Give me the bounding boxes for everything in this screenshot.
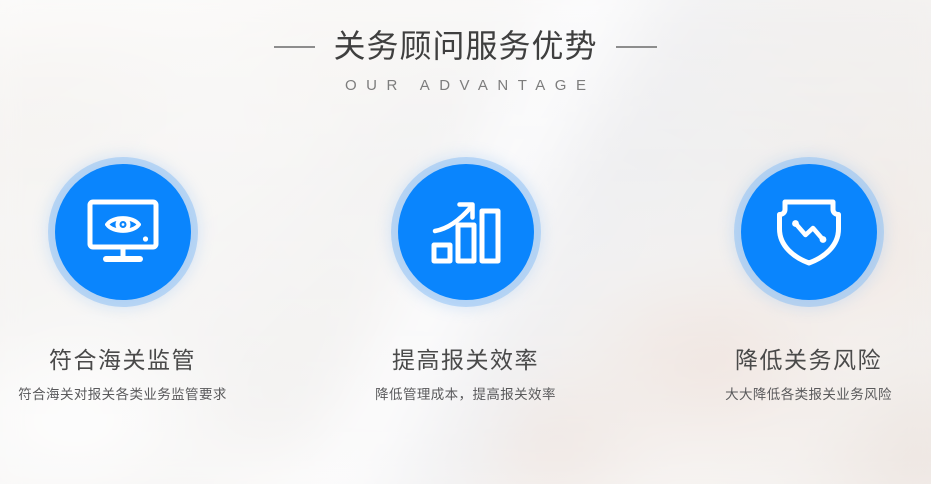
advantage-banner: 关务顾问服务优势 OUR ADVANTAGE [0,0,931,484]
card-title: 提高报关效率 [392,348,539,373]
shield-risk-down-icon [776,198,842,266]
icon-circle-1 [55,164,191,300]
monitor-eye-icon [86,199,160,265]
card-description: 符合海关对报关各类业务监管要求 [18,387,227,403]
advantage-card-list: 符合海关监管 符合海关对报关各类业务监管要求 [0,164,931,403]
card-title: 符合海关监管 [49,348,196,373]
icon-circle-3 [741,164,877,300]
rule-right-icon [616,46,657,48]
card-description: 大大降低各类报关业务风险 [725,387,892,403]
bar-chart-growth-icon [431,199,501,265]
banner-content: 关务顾问服务优势 OUR ADVANTAGE [0,0,931,484]
page-title: 关务顾问服务优势 [333,30,597,64]
page-subtitle: OUR ADVANTAGE [0,77,931,94]
advantage-card-customs-supervision: 符合海关监管 符合海关对报关各类业务监管要求 [23,164,223,403]
card-title: 降低关务风险 [735,348,882,373]
card-description: 降低管理成本，提高报关效率 [375,387,556,403]
rule-left-icon [274,46,315,48]
heading-block: 关务顾问服务优势 OUR ADVANTAGE [0,30,931,94]
icon-circle-2 [398,164,534,300]
heading-row: 关务顾问服务优势 [0,30,931,64]
advantage-card-declaration-efficiency: 提高报关效率 降低管理成本，提高报关效率 [366,164,566,403]
advantage-card-risk-reduction: 降低关务风险 大大降低各类报关业务风险 [709,164,909,403]
